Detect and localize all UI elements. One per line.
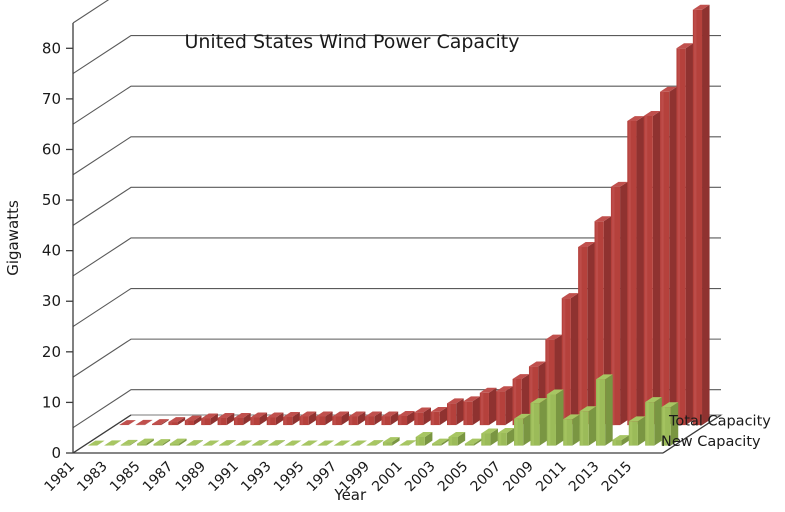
bar-total-capacity-2003	[480, 388, 497, 425]
bar-total-capacity-2011	[611, 182, 628, 425]
bar-side-face	[686, 43, 694, 425]
y-tick-label-40: 40	[42, 242, 61, 260]
bar-highlight	[661, 92, 663, 425]
bar-new-capacity-2008	[530, 398, 547, 445]
bar-highlight	[450, 437, 452, 446]
bar-side-face	[636, 116, 644, 425]
bar-highlight	[202, 418, 204, 425]
wind-power-capacity-chart: 0102030405060708019811983198519871989199…	[0, 0, 785, 512]
y-axis-title: Gigawatts	[4, 200, 22, 276]
bar-highlight	[268, 417, 270, 425]
bar-highlight	[448, 403, 450, 425]
x-tick-label-1993: 1993	[238, 459, 275, 496]
bar-highlight	[548, 394, 550, 445]
bar-side-face	[540, 398, 548, 445]
bar-total-capacity-2004	[496, 386, 513, 425]
bar-highlight	[366, 416, 368, 425]
bar-highlight	[515, 419, 517, 446]
bar-highlight	[269, 445, 271, 446]
x-tick-label-2003: 2003	[402, 459, 439, 496]
legend-label-new-capacity: New Capacity	[661, 434, 761, 450]
bar-highlight	[614, 440, 616, 446]
bar-highlight	[235, 418, 237, 425]
bar-highlight	[350, 416, 352, 425]
bar-side-face	[702, 5, 710, 425]
bar-total-capacity-2014	[660, 87, 677, 425]
chart-title: United States Wind Power Capacity	[184, 31, 519, 53]
bar-highlight	[532, 403, 534, 445]
bar-highlight	[564, 419, 566, 445]
bar-total-capacity-2008	[562, 293, 579, 425]
x-tick-label-1991: 1991	[205, 459, 242, 496]
bar-highlight	[384, 442, 386, 446]
x-tick-label-2005: 2005	[435, 459, 472, 496]
bar-side-face	[489, 388, 497, 425]
bar-new-capacity-2015	[645, 397, 662, 445]
x-tick-label-1989: 1989	[173, 459, 210, 496]
bar-new-capacity-2012	[596, 374, 613, 445]
bar-highlight	[153, 424, 155, 425]
bar-highlight	[646, 402, 648, 446]
x-tick-label-2011: 2011	[533, 459, 570, 496]
bar-highlight	[630, 421, 632, 445]
x-tick-label-1985: 1985	[107, 459, 144, 496]
bar-side-face	[572, 414, 580, 445]
bar-side-face	[587, 242, 595, 425]
bar-highlight	[155, 444, 157, 446]
bar-total-capacity-2016	[693, 5, 710, 425]
legend-label-total-capacity: Total Capacity	[668, 414, 771, 430]
y-tick-label-0: 0	[51, 444, 61, 462]
bar-new-capacity-2009	[547, 390, 564, 446]
bar-highlight	[252, 417, 254, 425]
bar-total-capacity-2015	[676, 43, 693, 425]
bar-side-face	[523, 414, 531, 446]
bar-new-capacity-2007	[514, 414, 531, 446]
bar-highlight	[253, 445, 255, 446]
x-tick-label-2015: 2015	[599, 459, 636, 496]
bar-highlight	[417, 437, 419, 446]
bar-highlight	[122, 445, 124, 446]
bar-highlight	[220, 445, 222, 446]
bar-highlight	[368, 445, 370, 446]
x-tick-label-1981: 1981	[42, 459, 79, 496]
bar-highlight	[433, 444, 435, 446]
chart-root: 0102030405060708019811983198519871989199…	[0, 0, 785, 512]
bar-side-face	[505, 386, 513, 425]
bar-highlight	[170, 422, 172, 425]
x-tick-label-2001: 2001	[369, 459, 406, 496]
bar-total-capacity-2013	[644, 111, 661, 425]
bar-highlight	[333, 416, 335, 425]
bar-highlight	[678, 48, 680, 425]
bar-side-face	[571, 293, 579, 425]
y-tick-label-30: 30	[42, 292, 61, 310]
y-tick-label-70: 70	[42, 90, 61, 108]
bar-side-face	[605, 374, 613, 445]
bar-highlight	[499, 433, 501, 446]
bar-highlight	[317, 416, 319, 425]
y-tick-label-50: 50	[42, 191, 61, 209]
x-tick-label-2009: 2009	[500, 459, 537, 496]
bar-side-face	[653, 111, 661, 425]
bar-highlight	[415, 412, 417, 425]
x-axis-title: Year	[333, 486, 367, 504]
bar-new-capacity-2011	[580, 406, 597, 445]
bar-highlight	[645, 116, 647, 425]
bar-total-capacity-2012	[627, 116, 644, 425]
y-tick-label-80: 80	[42, 39, 61, 57]
bar-highlight	[138, 444, 140, 446]
bar-highlight	[465, 401, 467, 425]
y-tick-label-10: 10	[42, 393, 61, 411]
bar-highlight	[399, 416, 401, 425]
bar-highlight	[628, 121, 630, 425]
bar-highlight	[284, 417, 286, 425]
bar-highlight	[694, 10, 696, 425]
bar-highlight	[171, 444, 173, 446]
bar-highlight	[481, 393, 483, 425]
y-tick-label-20: 20	[42, 343, 61, 361]
bar-highlight	[497, 391, 499, 425]
bar-total-capacity-2001	[447, 398, 464, 425]
bar-highlight	[466, 444, 468, 446]
bar-side-face	[473, 396, 481, 425]
x-tick-label-1995: 1995	[271, 459, 308, 496]
bar-highlight	[482, 433, 484, 445]
bar-new-capacity-2014	[629, 416, 646, 445]
bar-highlight	[186, 421, 188, 426]
bar-new-capacity-2010	[563, 414, 580, 445]
x-tick-label-2013: 2013	[566, 459, 603, 496]
bar-highlight	[581, 411, 583, 445]
bar-side-face	[669, 87, 677, 425]
bar-highlight	[432, 412, 434, 425]
bar-highlight	[187, 445, 189, 446]
bar-highlight	[383, 416, 385, 425]
bar-total-capacity-2002	[463, 396, 480, 425]
bar-highlight	[579, 247, 581, 425]
x-tick-label-1987: 1987	[140, 459, 177, 496]
x-tick-label-2007: 2007	[468, 459, 505, 496]
bar-side-face	[638, 416, 646, 445]
bar-highlight	[301, 416, 303, 425]
x-tick-label-1983: 1983	[74, 459, 111, 496]
bar-highlight	[219, 418, 221, 425]
bar-total-capacity-2009	[578, 242, 595, 425]
bar-side-face	[589, 406, 597, 445]
bar-highlight	[597, 379, 599, 445]
y-tick-label-60: 60	[42, 140, 61, 158]
bar-side-face	[556, 390, 564, 446]
bar-side-face	[620, 182, 628, 425]
